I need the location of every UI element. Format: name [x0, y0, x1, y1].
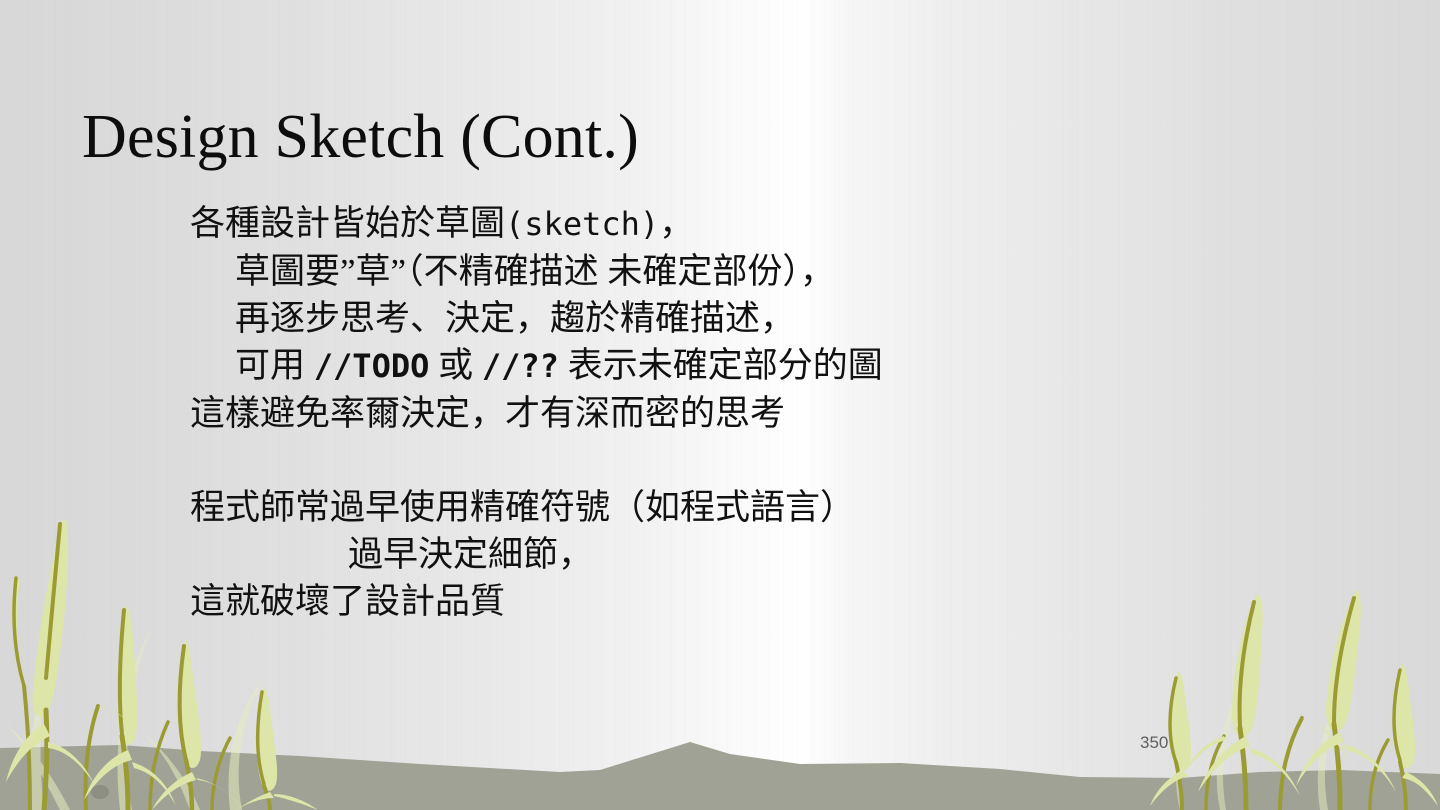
body-text-run: 可用 [235, 346, 314, 385]
body-text-run: 或 [429, 346, 482, 385]
body-text-run: //TODO [314, 347, 430, 385]
body-text-run: (sketch) [505, 205, 659, 243]
body-text-run: 過早決定細節， [348, 535, 593, 574]
body-line [190, 437, 1250, 484]
body-line: 程式師常過早使用精確符號（如程式語言） [190, 484, 1250, 531]
slide-canvas: Design Sketch (Cont.) 各種設計皆始於草圖(sketch)，… [0, 0, 1440, 810]
body-text-run: 這就破壞了設計品質 [190, 582, 505, 621]
body-line: 各種設計皆始於草圖(sketch)， [190, 200, 1250, 248]
body-text-run: ， [659, 204, 694, 243]
body-text-run: 這樣避免率爾決定，才有深而密的思考 [190, 394, 785, 433]
body-line: 這就破壞了設計品質 [190, 578, 1250, 625]
body-line: 草圖要”草”（不精確描述 未確定部份）， [190, 248, 1250, 295]
body-text-run: 草圖要”草”（不精確描述 未確定部份）， [235, 252, 835, 291]
page-title: Design Sketch (Cont.) [82, 104, 639, 171]
page-number: 350 [1140, 733, 1168, 753]
slide-body: 各種設計皆始於草圖(sketch)，草圖要”草”（不精確描述 未確定部份），再逐… [190, 200, 1250, 625]
body-line: 再逐步思考、決定，趨於精確描述， [190, 295, 1250, 342]
body-text-run: 各種設計皆始於草圖 [190, 204, 505, 243]
body-line: 過早決定細節， [190, 531, 1250, 578]
body-text-run: 程式師常過早使用精確符號（如程式語言） [190, 488, 855, 527]
ground-band-decoration [0, 720, 1440, 810]
body-line: 這樣避免率爾決定，才有深而密的思考 [190, 390, 1250, 437]
body-text-run: 表示未確定部分的圖 [559, 346, 883, 385]
body-text-run: //?? [482, 347, 559, 385]
body-text-run: 再逐步思考、決定，趨於精確描述， [235, 299, 795, 338]
body-line: 可用 //TODO 或 //?? 表示未確定部分的圖 [190, 342, 1250, 390]
